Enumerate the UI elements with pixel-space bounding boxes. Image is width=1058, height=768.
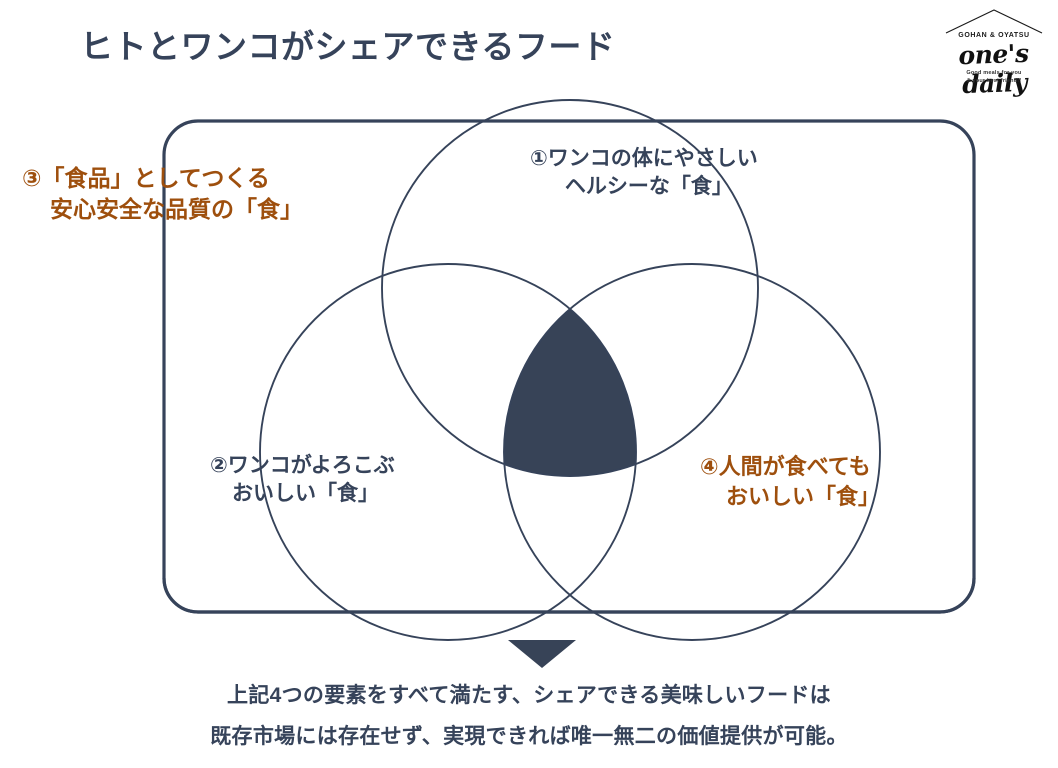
footer-caption-line1: 上記4つの要素をすべて満たす、シェアできる美味しいフードは <box>0 676 1058 717</box>
venn-label-3-line2: 安心安全な品質の「食」 <box>50 194 303 225</box>
venn-label-1-line2: ヘルシーな「食」 <box>540 173 758 201</box>
venn-label-4-line1: ④人間が食べても <box>700 452 880 482</box>
venn-label-3-line1: ③「食品」としてつくる <box>22 163 303 194</box>
down-arrow-icon <box>508 640 576 668</box>
venn-label-1: ①ワンコの体にやさしい ヘルシーな「食」 <box>530 145 758 202</box>
venn-label-2-line1: ②ワンコがよろこぶ <box>210 452 395 480</box>
venn-label-2-line2: おいしい「食」 <box>232 480 395 508</box>
footer-caption-line2: 既存市場には存在せず、実現できれば唯一無二の価値提供が可能。 <box>0 717 1058 758</box>
venn-label-4: ④人間が食べても おいしい「食」 <box>700 452 880 511</box>
venn-label-4-line2: おいしい「食」 <box>726 482 880 512</box>
footer-caption: 上記4つの要素をすべて満たす、シェアできる美味しいフードは 既存市場には存在せず… <box>0 676 1058 758</box>
venn-label-2: ②ワンコがよろこぶ おいしい「食」 <box>210 452 395 509</box>
venn-svg <box>0 0 1058 700</box>
venn-label-3: ③「食品」としてつくる 安心安全な品質の「食」 <box>22 163 303 225</box>
venn-diagram: ①ワンコの体にやさしい ヘルシーな「食」 ②ワンコがよろこぶ おいしい「食」 ③… <box>0 0 1058 700</box>
venn-label-1-line1: ①ワンコの体にやさしい <box>530 145 758 173</box>
